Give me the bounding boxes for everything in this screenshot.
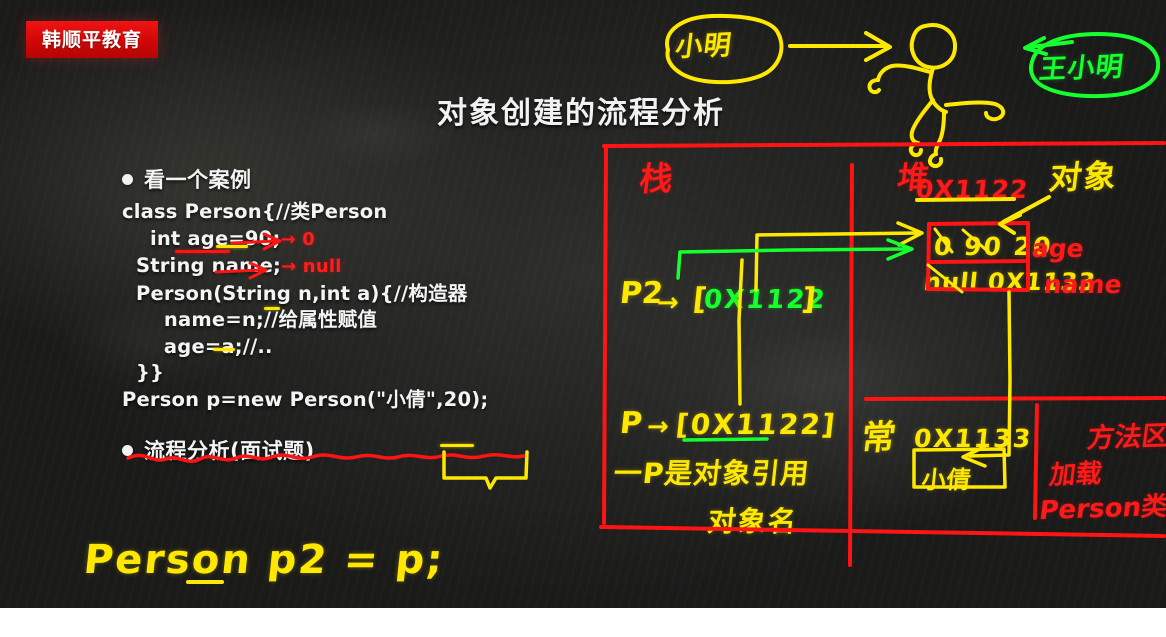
bullet-dot-icon [122,174,133,185]
footer-strip [0,608,1166,637]
sketch-bubble-left-label: 小明 [673,23,734,64]
heap-object-label: 对象 [1047,151,1121,199]
heap-field-age-name: age [1030,234,1085,263]
constant-pool-address: 0X1133 [912,424,1033,453]
method-area-label: 方法区 [1085,414,1166,456]
code-line: Person(String n,int a){//构造器 [122,281,592,308]
stack-region-label: 栈 [637,151,676,200]
code-line: int age=90;→ 0 [122,226,592,254]
bullet-label: 看一个案例 [144,164,252,194]
constant-pool-content: 小倩 [920,460,974,495]
left-content-column: 看一个案例 class Person{//类Person int age=90;… [122,164,592,465]
page-title: 对象创建的流程分析 [437,88,725,132]
method-area-line-0: 加载 [1048,453,1105,492]
code-annotation: → 0 [280,229,314,250]
stack-note-1: 对象名 [706,500,800,540]
stack-row-p-value: [0X1122] [674,408,838,441]
code-line: String name;→ null [122,253,592,281]
bullet-item-1: 流程分析(面试题) [122,435,592,465]
code-line: }} [122,360,592,387]
stack-row-p2-arrow: → [655,288,680,318]
stack-row-p-arrow: → [645,412,670,442]
sketch-bubble-right-label: 王小明 [1037,45,1126,87]
bullet-label: 流程分析(面试题) [144,435,315,465]
code-line: class Person{//类Person [122,199,592,226]
code-line: age=a;//.. [122,334,592,361]
slide-stage: 韩顺平教育 对象创建的流程分析 看一个案例 class Person{//类Pe… [0,0,1166,637]
bullet-dot-icon [122,445,133,456]
code-block: class Person{//类Person int age=90;→ 0 St… [122,199,592,413]
code-line: Person p=new Person("小倩",20); [122,387,592,414]
bullet-item-0: 看一个案例 [122,164,592,194]
stack-note-0: 一P是对象引用 [612,452,812,492]
constant-pool-label: 常 [859,409,899,459]
method-area-line-1: Person类 [1037,486,1166,527]
heap-object-address: 0X1122 [914,175,1029,204]
handwritten-assignment: Person p2 = p; [82,537,447,583]
code-line: name=n;//给属性赋值 [122,307,592,334]
code-annotation: → null [281,256,342,277]
brand-badge: 韩顺平教育 [26,21,158,58]
heap-field-name-name: name [1042,270,1123,299]
stack-row-p-var: P [618,406,644,441]
